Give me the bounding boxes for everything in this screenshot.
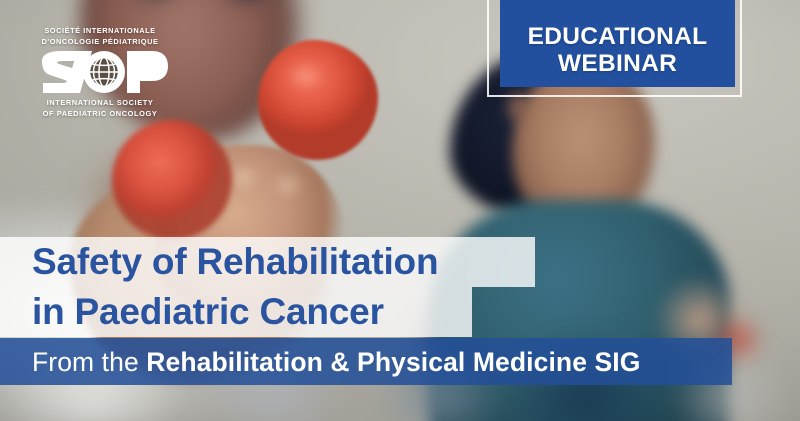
subtitle-bar: From the Rehabilitation & Physical Medic…	[0, 338, 732, 385]
page-title-line-2: in Paediatric Cancer	[0, 287, 472, 337]
badge-label-line-1: EDUCATIONAL	[528, 23, 708, 50]
logo-tagline-french-line-1: SOCIÉTÉ INTERNATIONALE	[20, 26, 180, 37]
page-title-line-1: Safety of Rehabilitation	[0, 237, 535, 287]
subtitle-text: From the Rehabilitation & Physical Medic…	[32, 347, 640, 377]
badge-label: EDUCATIONAL WEBINAR	[528, 23, 708, 77]
logo-tagline-french-line-2: D'ONCOLOGIE PÉDIATRIQUE	[20, 37, 180, 48]
siop-wordmark	[20, 49, 180, 95]
page-title: Safety of Rehabilitation in Paediatric C…	[0, 237, 535, 337]
logo-tagline-english-line-1: INTERNATIONAL SOCIETY	[20, 98, 180, 109]
subtitle-emphasis: Rehabilitation & Physical Medicine SIG	[146, 347, 640, 377]
subtitle-prefix: From the	[32, 347, 146, 377]
siop-logo: SOCIÉTÉ INTERNATIONALE D'ONCOLOGIE PÉDIA…	[20, 26, 180, 119]
logo-tagline-french: SOCIÉTÉ INTERNATIONALE D'ONCOLOGIE PÉDIA…	[20, 26, 180, 47]
logo-tagline-english: INTERNATIONAL SOCIETY OF PAEDIATRIC ONCO…	[20, 98, 180, 119]
logo-tagline-english-line-2: OF PAEDIATRIC ONCOLOGY	[20, 109, 180, 120]
badge-label-line-2: WEBINAR	[528, 50, 708, 77]
educational-webinar-badge: EDUCATIONAL WEBINAR	[500, 0, 735, 87]
webinar-banner: SOCIÉTÉ INTERNATIONALE D'ONCOLOGIE PÉDIA…	[0, 0, 800, 421]
